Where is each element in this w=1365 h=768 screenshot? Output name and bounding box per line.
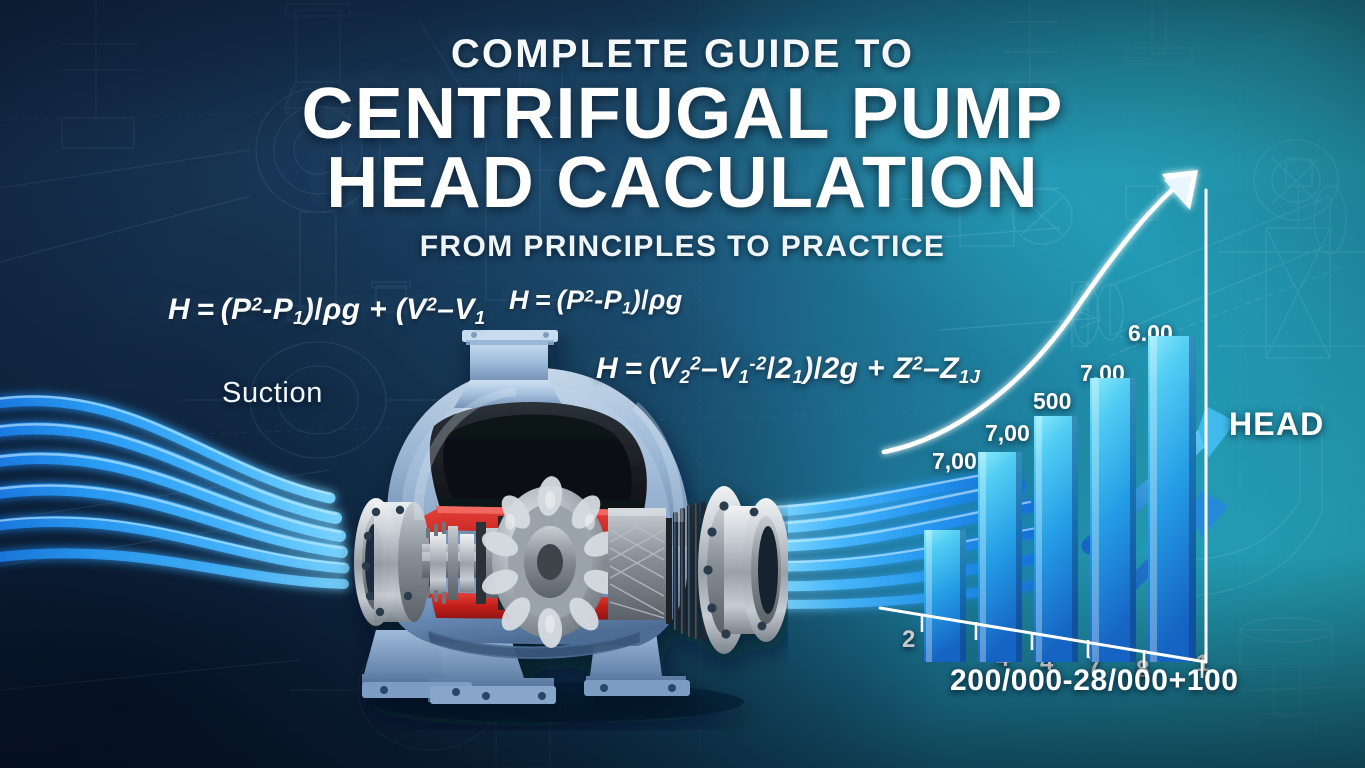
poster-canvas: COMPLETE GUIDE TO CENTRIFUGAL PUMP HEAD … <box>0 0 1365 768</box>
title-main-line1: CENTRIFUGAL PUMP <box>0 78 1365 151</box>
title-main-line2: HEAD CACULATION <box>0 147 1365 220</box>
formula-head-pressure: H = (P2-P1)/ρg <box>509 285 683 319</box>
x-axis-caption: 200/000-28/000+100 <box>950 664 1239 698</box>
discharge-flange <box>698 486 788 654</box>
formula-head-pressure-velocity: H = (P2-P1)/ρg + (V2–V1 <box>168 293 486 329</box>
label-suction: Suction <box>222 377 323 410</box>
page-title: COMPLETE GUIDE TO CENTRIFUGAL PUMP HEAD … <box>0 34 1365 264</box>
y-axis-label-head: HEAD <box>1229 406 1324 443</box>
diffuser-block <box>608 508 666 620</box>
title-subtitle: FROM PRINCIPLES TO PRACTICE <box>0 230 1365 264</box>
formula-head-velocity-elevation: H = (V22–V1-2/21)/2g + Z2–Z1J <box>596 352 980 388</box>
title-pre-line: COMPLETE GUIDE TO <box>0 34 1365 76</box>
centrifugal-pump-cutaway <box>318 330 788 730</box>
